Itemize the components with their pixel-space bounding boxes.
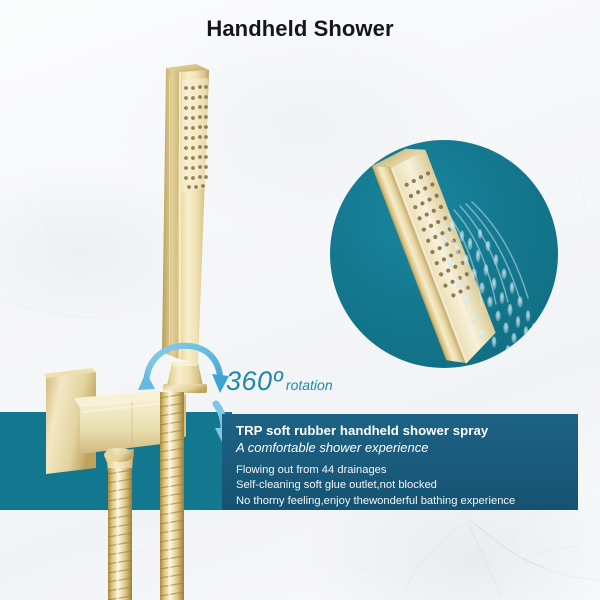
annotation-arrows (0, 0, 600, 600)
list-item: No thorny feeling,enjoy thewonderful bat… (236, 494, 578, 509)
feature-subheadline: A comfortable shower experience (236, 441, 578, 456)
feature-bullet-list: Flowing out from 44 drainages Self-clean… (236, 463, 578, 509)
product-infographic: Handheld Shower (0, 0, 600, 600)
rotation-word: rotation (286, 377, 333, 393)
rotation-arrow-head-left (138, 372, 155, 390)
feature-panel: TRP soft rubber handheld shower spray A … (222, 414, 578, 510)
rotation-caption: 360ºrotation (226, 366, 333, 397)
rotation-degrees: 360º (226, 366, 283, 396)
feature-headline: TRP soft rubber handheld shower spray (236, 424, 578, 439)
list-item: Flowing out from 44 drainages (236, 463, 578, 478)
rotation-arrow-icon (146, 346, 220, 386)
list-item: Self-cleaning soft glue outlet,not block… (236, 478, 578, 493)
